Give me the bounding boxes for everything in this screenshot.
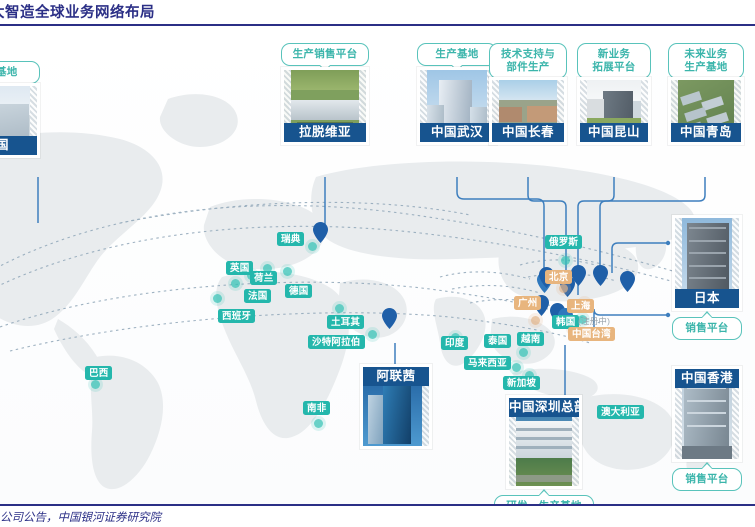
map-label-beijing[interactable]: 北京 [545, 270, 572, 284]
photo-card-japan[interactable]: 日本 销售平台 [672, 215, 742, 311]
map-label-sweden[interactable]: 瑞典 [277, 232, 304, 246]
map-label-thailand[interactable]: 泰国 [484, 334, 511, 348]
map-dot-france [231, 279, 240, 288]
photo-changchun: 中国长春 [489, 77, 567, 145]
map-label-australia[interactable]: 澳大利亚 [597, 405, 644, 419]
map-label-taiwan[interactable]: 中国台湾 [568, 327, 615, 341]
source-note: 公司公告，中国银河证券研究院 [0, 509, 161, 525]
map-label-malaysia[interactable]: 马来西亚 [464, 356, 511, 370]
photo-card-uae[interactable]: 阿联茜 [360, 364, 432, 449]
map-dot-sweden [308, 242, 317, 251]
page-title: 大智造全球业务网络布局 [0, 1, 155, 22]
callout-shenzhen: 研发、生产基地 销售平台 [494, 495, 594, 504]
caption-qingdao: 中国青岛 [671, 123, 741, 142]
map-label-india[interactable]: 印度 [441, 336, 468, 350]
map-label-shanghai[interactable]: 上海 [567, 299, 594, 313]
map-dot-thailand [519, 348, 528, 357]
photo-left-edge: 德国 [0, 83, 40, 158]
callout-japan: 销售平台 [672, 317, 742, 340]
map-dot-spain [213, 294, 222, 303]
map-label-southafrica[interactable]: 南非 [303, 401, 330, 415]
callout-changchun: 技术支持与 部件生产 [489, 43, 567, 79]
map-pin-qingdao[interactable] [593, 265, 608, 286]
map-label-spain[interactable]: 西班牙 [218, 309, 255, 323]
photo-latvia: 拉脱维亚 [281, 67, 369, 145]
callout-wuhan: 生产基地 [417, 43, 497, 66]
map-dot-turkey [335, 304, 344, 313]
map-dot-germany [283, 267, 292, 276]
map-label-france[interactable]: 法国 [244, 289, 271, 303]
map-label-russia[interactable]: 俄罗斯 [545, 235, 582, 249]
map-dot-russia [561, 256, 570, 265]
map-dot-southafrica [314, 419, 323, 428]
photo-card-wuhan[interactable]: 生产基地 中国武汉 [417, 43, 497, 145]
photo-japan: 日本 [672, 215, 742, 311]
photo-card-left-edge[interactable]: 生产基地 德国 [0, 61, 40, 158]
footer-rule [0, 504, 755, 506]
map-label-singapore[interactable]: 新加坡 [503, 376, 540, 390]
map-canvas: 生产基地 德国 生产销售平台 拉脱维亚 [0, 27, 755, 504]
photo-qingdao: 中国青岛 [668, 77, 744, 145]
map-label-germany[interactable]: 德国 [285, 284, 312, 298]
photo-card-changchun[interactable]: 技术支持与 部件生产 中国长春 [489, 43, 567, 145]
map-label-brazil[interactable]: 巴西 [85, 366, 112, 380]
photo-card-shenzhen[interactable]: 中国深圳总部 研发、生产基地 销售平台 [506, 395, 582, 489]
caption-changchun: 中国长春 [492, 123, 564, 142]
photo-card-kunshan[interactable]: 新业务 拓展平台 中国昆山 [577, 43, 651, 145]
photo-card-latvia[interactable]: 生产销售平台 拉脱维亚 [281, 43, 369, 145]
map-label-netherlands[interactable]: 荷兰 [250, 271, 277, 285]
caption-left-edge: 德国 [0, 136, 37, 155]
callout-hongkong: 销售平台 [672, 468, 742, 491]
caption-wuhan: 中国武汉 [420, 123, 494, 142]
figure-header: 大智造全球业务网络布局 [0, 0, 755, 28]
map-pin-uae[interactable] [382, 308, 397, 329]
figure-root: 大智造全球业务网络布局 [0, 0, 755, 527]
callout-left-edge: 生产基地 [0, 61, 40, 84]
map-dot-guangzhou [531, 316, 540, 325]
map-pin-japan[interactable] [620, 271, 635, 292]
map-label-saudi[interactable]: 沙特阿拉伯 [308, 335, 365, 349]
map-dot-beijing [559, 284, 568, 293]
callout-latvia: 生产销售平台 [281, 43, 369, 66]
caption-hongkong: 中国香港 [675, 369, 739, 388]
caption-kunshan: 中国昆山 [580, 123, 648, 142]
map-label-turkey[interactable]: 土耳其 [327, 315, 364, 329]
map-dot-brazil [91, 380, 100, 389]
map-dot-malaysia [512, 363, 521, 372]
photo-uae: 阿联茜 [360, 364, 432, 449]
photo-card-hongkong[interactable]: 中国香港 销售平台 [672, 366, 742, 462]
header-rule [0, 24, 755, 26]
map-pin-europe[interactable] [313, 222, 328, 243]
callout-qingdao: 未来业务 生产基地 [668, 43, 744, 79]
photo-shenzhen: 中国深圳总部 [506, 395, 582, 489]
photo-kunshan: 中国昆山 [577, 77, 651, 145]
map-label-vietnam[interactable]: 越南 [517, 332, 544, 346]
caption-latvia: 拉脱维亚 [284, 123, 366, 142]
caption-shenzhen: 中国深圳总部 [509, 398, 579, 417]
photo-card-qingdao[interactable]: 未来业务 生产基地 中国青岛 [668, 43, 744, 145]
photo-wuhan: 中国武汉 [417, 67, 497, 145]
map-dot-saudi [368, 330, 377, 339]
caption-japan: 日本 [675, 289, 739, 308]
map-label-guangzhou[interactable]: 广州 [514, 296, 541, 310]
caption-uae: 阿联茜 [363, 367, 429, 386]
callout-kunshan: 新业务 拓展平台 [577, 43, 651, 79]
map-pin-kunshan[interactable] [571, 265, 586, 286]
photo-hongkong: 中国香港 [672, 366, 742, 462]
map-annotation-korea-status: (注册中) [578, 316, 610, 327]
